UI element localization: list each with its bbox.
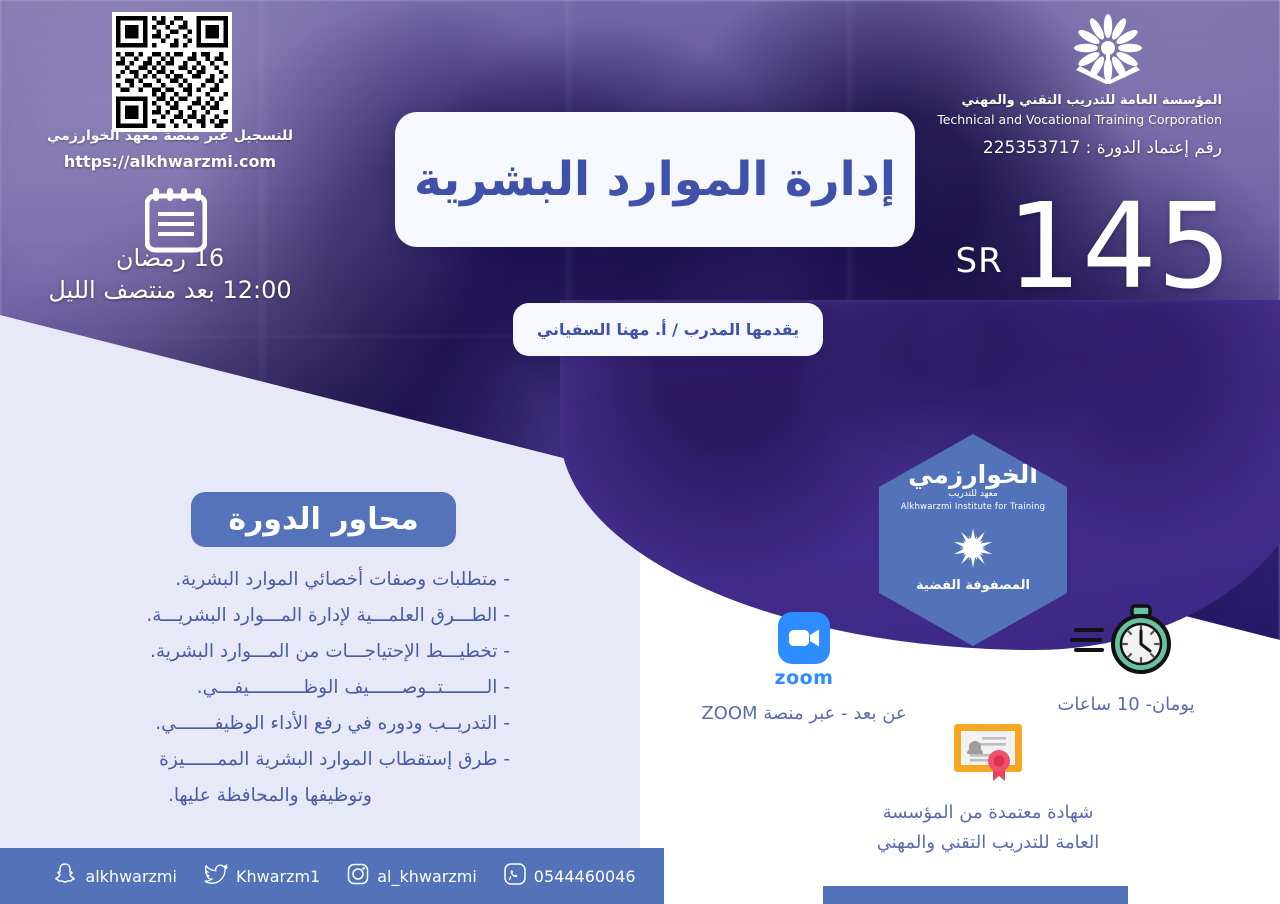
qr-code[interactable] (112, 12, 232, 132)
institute-sub-arabic: معهد للتدريب (948, 489, 998, 499)
price-amount: 145 (1007, 196, 1232, 297)
social-handle: alkhwarzmi (85, 867, 177, 886)
social-handle: al_khwarzmi (377, 867, 477, 886)
trainer-name: يقدمها المدرب / أ. مهنا السفياني (537, 320, 799, 339)
topics-list: - متطلبات وصفات أخصائي الموارد البشرية. … (20, 562, 520, 814)
topics-heading: محاور الدورة (228, 502, 418, 537)
list-item: - تخطيـــط الإحتياجـــات من المـــوارد ا… (20, 634, 520, 670)
certificate-label-line2: العامة للتدريب التقني والمهني (838, 828, 1138, 858)
certificate-icon (950, 769, 1026, 788)
topics-heading-badge: محاور الدورة (191, 492, 456, 547)
certificate-feature: شهادة معتمدة من المؤسسة العامة للتدريب ا… (838, 720, 1138, 858)
social-item-snapchat[interactable]: alkhwarzmi (52, 861, 177, 891)
price-display: SR 145 (956, 196, 1232, 297)
course-title-card: إدارة الموارد البشرية (395, 112, 915, 247)
social-handle: Khwarzm1 (236, 867, 320, 886)
list-item: وتوظيفها والمحافظة عليها. (20, 778, 520, 814)
whatsapp-icon (503, 862, 527, 890)
social-item-twitter[interactable]: Khwarzm1 (203, 861, 320, 891)
social-item-whatsapp[interactable]: 0544460046 (503, 862, 636, 890)
course-time: 12:00 بعد منتصف الليل (0, 276, 340, 304)
list-item: - طرق إستقطاب الموارد البشرية الممــــــ… (20, 742, 520, 778)
zoom-camera-icon (778, 612, 830, 664)
qr-code-icon (116, 16, 228, 128)
list-item: - متطلبات وصفات أخصائي الموارد البشرية. (20, 562, 520, 598)
delivery-feature: zoom عن بعد - عبر منصة ZOOM (682, 612, 926, 729)
tvtc-name-english: Technical and Vocational Training Corpor… (802, 112, 1222, 127)
course-approval-number: رقم إعتماد الدورة : 225353717 (762, 138, 1222, 158)
price-currency: SR (956, 241, 1003, 281)
list-item: - الــــــــتــوصــــــيف الوظــــــــــ… (20, 670, 520, 706)
bottom-cta-bar[interactable] (823, 886, 1128, 904)
tvtc-palm-logo-icon (1066, 14, 1150, 96)
registration-url[interactable]: https://alkhwarzmi.com (0, 152, 340, 171)
list-item: - التدريــب ودوره في رفع الأداء الوظيفــ… (20, 706, 520, 742)
social-footer-bar: alkhwarzmi Khwarzm1 al_khwarzmi (0, 848, 664, 904)
certificate-label-line1: شهادة معتمدة من المؤسسة (838, 798, 1138, 828)
trainer-card: يقدمها المدرب / أ. مهنا السفياني (513, 303, 823, 356)
social-item-instagram[interactable]: al_khwarzmi (346, 862, 477, 890)
page-title: إدارة الموارد البشرية (414, 152, 896, 207)
institute-name-english: Alkhwarzmi Institute for Training (901, 502, 1045, 512)
social-handle: 0544460046 (534, 867, 636, 886)
registration-caption: للتسجيل عبر منصة معهد الخوارزمي (0, 128, 340, 144)
duration-label: يومان- 10 ساعات (1004, 690, 1248, 720)
stopwatch-icon (1070, 661, 1182, 680)
snapchat-icon (52, 861, 78, 891)
course-poster: للتسجيل عبر منصة معهد الخوارزمي https://… (0, 0, 1280, 904)
list-item: - الطـــرق العلمـــية لإدارة المـــوارد … (20, 598, 520, 634)
instagram-icon (346, 862, 370, 890)
silver-matrix-label: المصفوفة الفضية (916, 578, 1030, 593)
duration-feature: يومان- 10 ساعات (1004, 604, 1248, 720)
institute-name-arabic: الخوارزمي (908, 462, 1038, 487)
zoom-wordmark: zoom (682, 667, 926, 689)
twitter-icon (203, 861, 229, 891)
tvtc-name-arabic: المؤسسة العامة للتدريب التقني والمهني (802, 93, 1222, 108)
silver-matrix-star-icon (950, 526, 996, 574)
course-date: 16 رمضان (0, 244, 340, 272)
